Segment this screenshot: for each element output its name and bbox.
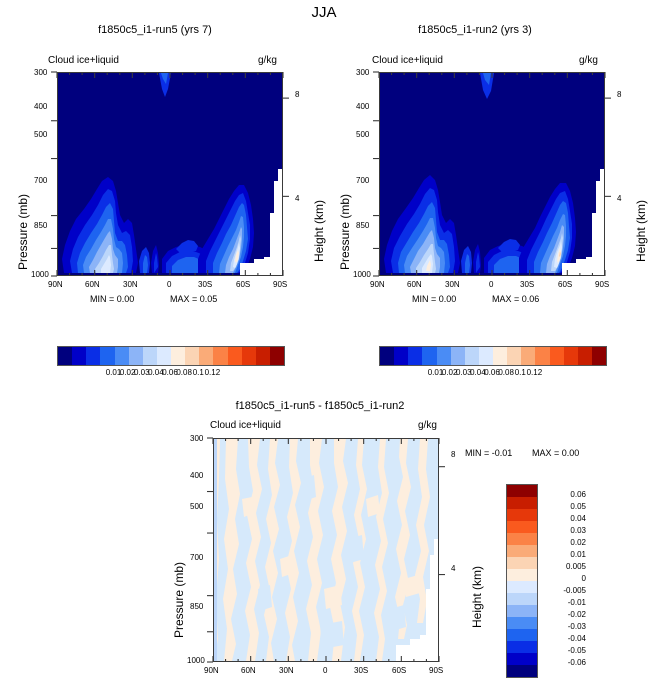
axis-tick-marks <box>0 0 648 694</box>
